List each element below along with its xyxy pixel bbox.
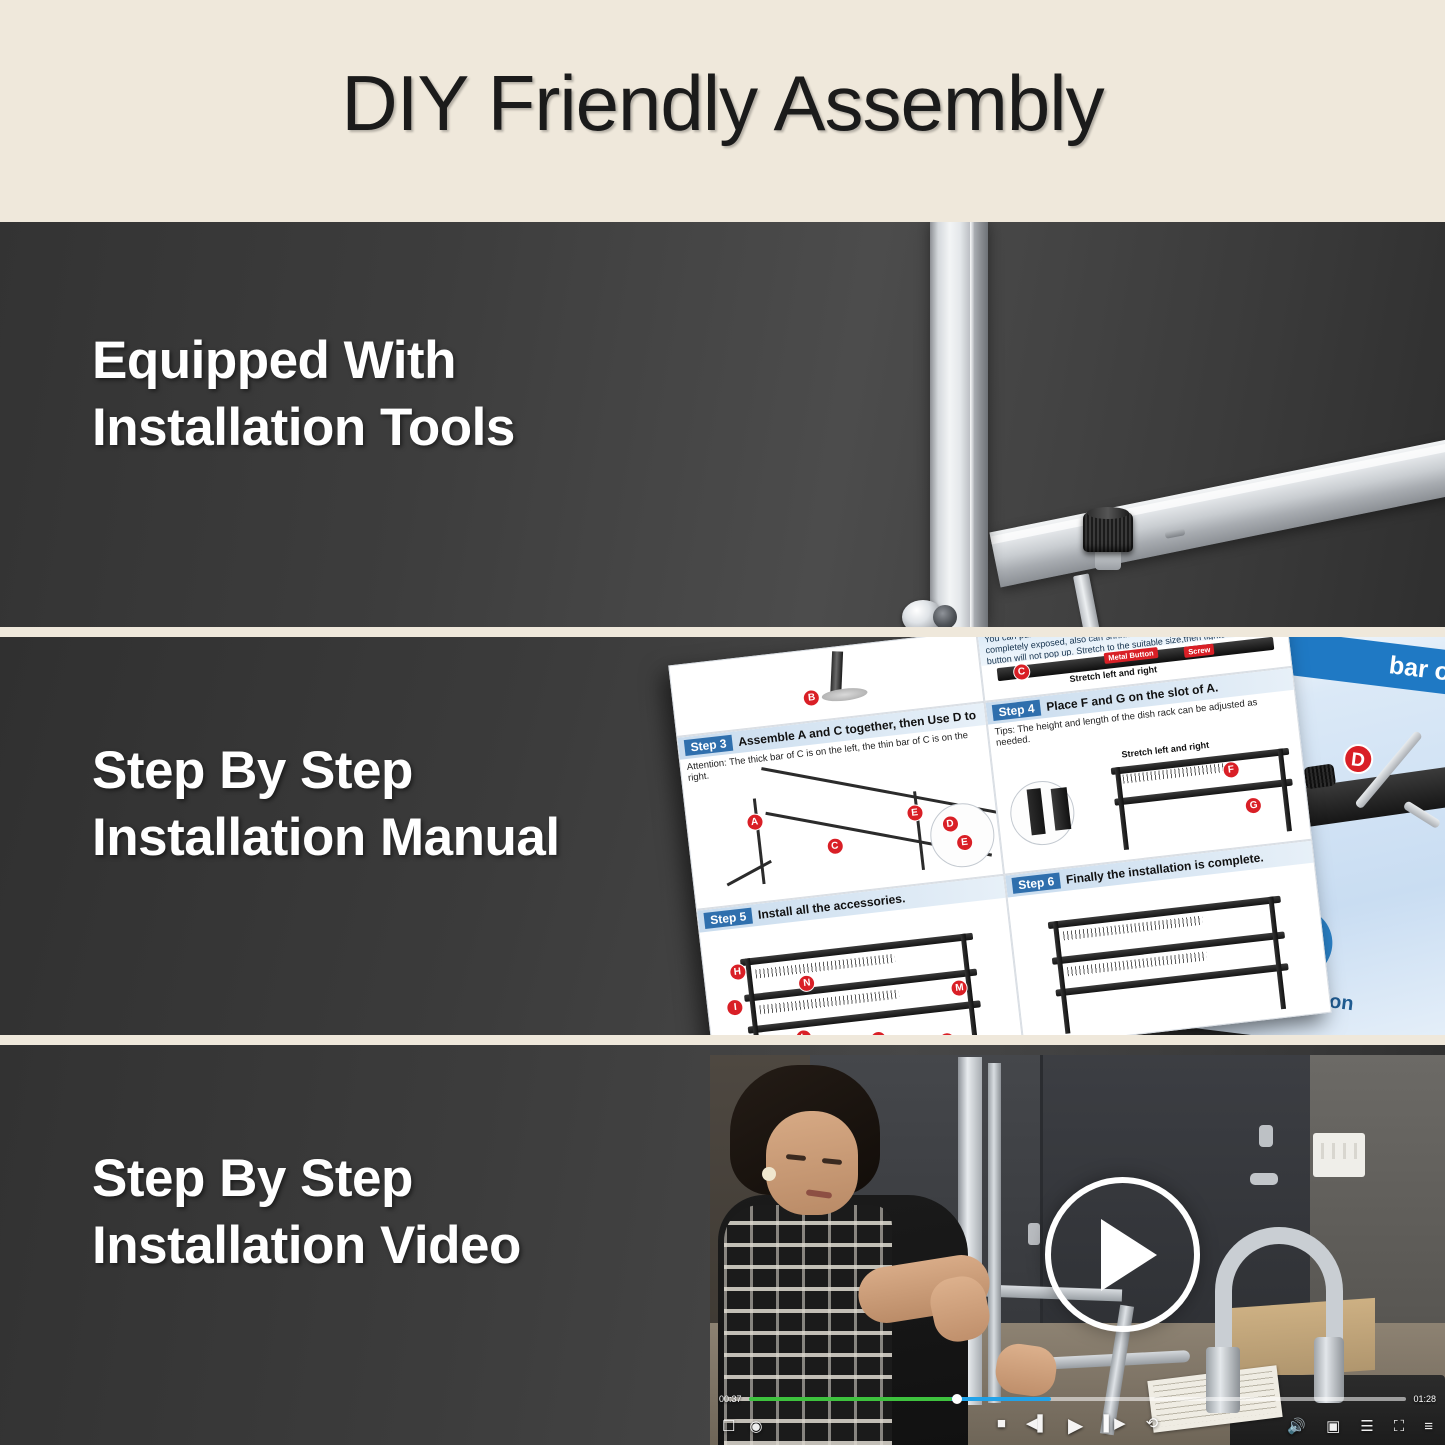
page-title: DIY Friendly Assembly [0, 58, 1445, 149]
fullscreen-icon[interactable]: ⛶ [1394, 1419, 1405, 1434]
panel-caption-video: Step By Step Installation Video [92, 1145, 521, 1280]
marker-a: A [745, 813, 764, 832]
panel-separator [0, 1035, 1445, 1045]
manual-sheet: B You can pull the thin bar of C to the … [668, 637, 1332, 1035]
subtitles-icon[interactable]: ☐ [722, 1419, 735, 1434]
black-knurled-knob [1083, 512, 1133, 552]
scene-door-handle-left [1028, 1223, 1040, 1245]
video-scrubber-handle[interactable] [952, 1394, 962, 1404]
step-6-illustration [1009, 876, 1330, 1035]
marker-b: B [802, 689, 821, 708]
step-6-tag: Step 6 [1011, 873, 1061, 894]
previous-icon[interactable]: ◀▌ [1026, 1416, 1048, 1436]
replay-icon[interactable]: ⟲ [1146, 1416, 1159, 1436]
manual-cell-step-3: Step 3 Assemble A and C together, then U… [676, 702, 1004, 910]
panel-caption-manual: Step By Step Installation Manual [92, 737, 560, 872]
scene-rack-post-secondary [988, 1063, 1001, 1403]
panel-installation-video: Step By Step Installation Video [0, 1045, 1445, 1445]
next-icon[interactable]: ▌▶ [1103, 1416, 1125, 1436]
menu-icon[interactable]: ≡ [1424, 1419, 1433, 1434]
bolt-cap-upper [933, 605, 957, 627]
marker-c: C [825, 837, 844, 856]
panel-equipped-with-installation-tools: Equipped With Installation Tools [0, 222, 1445, 627]
panel-installation-manual: Step By Step Installation Manual bar out… [0, 637, 1445, 1035]
step-4-tag: Step 4 [992, 700, 1042, 721]
scene-door-lock [1259, 1125, 1273, 1147]
play-icon-control[interactable]: ▶ [1068, 1416, 1083, 1436]
picture-in-picture-icon[interactable]: ▣ [1326, 1419, 1340, 1434]
step-4-rack [1110, 744, 1297, 847]
video-controls-left[interactable]: ☐ ◉ [722, 1419, 763, 1434]
volume-icon[interactable]: 🔊 [1287, 1419, 1306, 1434]
panel-separator [0, 627, 1445, 637]
video-button-row[interactable]: ☐ ◉ ■ ◀▌ ▶ ▌▶ ⟲ 🔊 ▣ ☰ ⛶ ≡ [710, 1411, 1445, 1441]
video-scrub-track[interactable] [749, 1397, 1407, 1401]
video-played-bar [749, 1397, 953, 1401]
marker-i: I [726, 998, 745, 1017]
camera-icon[interactable]: ◉ [749, 1419, 762, 1434]
settings-icon[interactable]: ☰ [1360, 1419, 1373, 1434]
rack-vertical-post [930, 222, 988, 627]
play-icon[interactable] [1045, 1177, 1200, 1332]
stop-icon[interactable]: ■ [997, 1416, 1006, 1436]
marker-e: E [905, 804, 924, 823]
video-total-time: 01:28 [1413, 1394, 1436, 1404]
step-6-rack [1047, 891, 1292, 1029]
header-banner: DIY Friendly Assembly [0, 0, 1445, 222]
scene-light-switch [1313, 1133, 1365, 1177]
scene-door-handle-right [1250, 1173, 1278, 1185]
manual-step-grid: B You can pull the thin bar of C to the … [668, 637, 1332, 1035]
step-3-tag: Step 3 [684, 735, 734, 756]
scene-faucet-arc [1215, 1227, 1343, 1355]
scene-person-face [766, 1111, 858, 1215]
step-5-illustration: H I N M L J K [701, 911, 1022, 1035]
video-progress-row[interactable]: 00:37 01:28 [710, 1391, 1445, 1407]
manual-blue-knob [1303, 763, 1336, 789]
step-5-tag: Step 5 [703, 908, 753, 929]
manual-cell-step-4: Step 4 Place F and G on the slot of A. T… [984, 667, 1312, 875]
video-controls-right[interactable]: 🔊 ▣ ☰ ⛶ ≡ [1287, 1419, 1433, 1434]
video-controls-bar[interactable]: 00:37 01:28 ☐ ◉ ■ ◀▌ ▶ ▌▶ ⟲ [710, 1387, 1445, 1445]
step-5-rack [739, 926, 984, 1035]
scene-person-earring [762, 1167, 776, 1181]
panel-caption-tools: Equipped With Installation Tools [92, 327, 515, 462]
video-thumbnail[interactable]: 00:37 01:28 ☐ ◉ ■ ◀▌ ▶ ▌▶ ⟲ [710, 1055, 1445, 1445]
play-triangle-glyph [1101, 1219, 1157, 1291]
marker-d: D [1342, 742, 1375, 775]
video-current-time: 00:37 [719, 1394, 742, 1404]
manual-cell-step-6: Step 6 Finally the installation is compl… [1004, 840, 1332, 1035]
